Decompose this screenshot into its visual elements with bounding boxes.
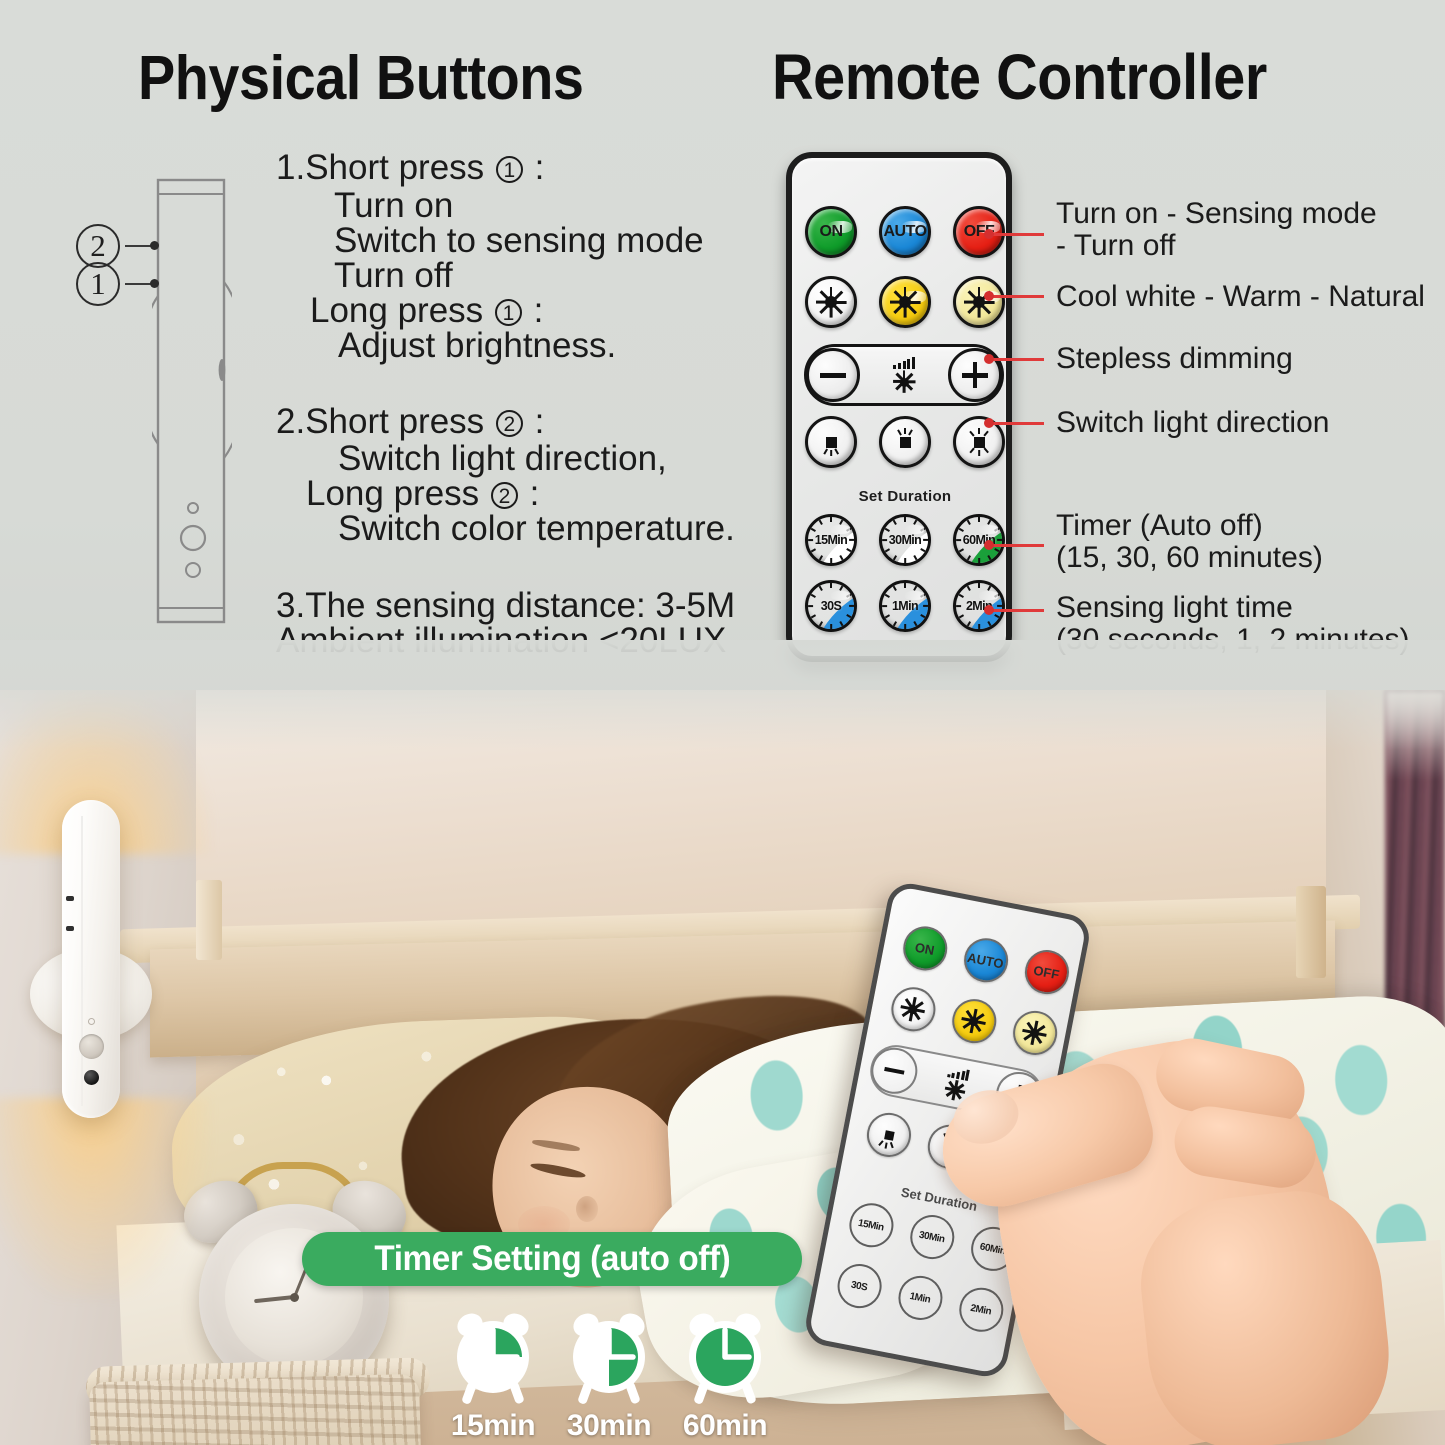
timer-30min-button[interactable]: 30Min xyxy=(879,514,931,566)
minus-icon xyxy=(820,362,846,388)
sensing-30s-button-photo[interactable]: 30S xyxy=(833,1260,885,1312)
callout-dot-direction xyxy=(984,418,994,428)
page-title-physical-buttons: Physical Buttons xyxy=(138,43,584,114)
natural-white-button[interactable] xyxy=(953,276,1005,328)
gauge-bars-icon xyxy=(947,1065,970,1081)
light-down-button[interactable] xyxy=(805,416,857,468)
nose xyxy=(576,1196,598,1222)
callout-sensing: Sensing light time (30 seconds, 1, 2 min… xyxy=(1056,592,1410,657)
instruction-line-2d: Switch color temperature. xyxy=(338,511,735,546)
timer-setting-banner: Timer Setting (auto off) xyxy=(302,1232,802,1286)
sensing-1min-button[interactable]: 1Min xyxy=(879,580,931,632)
callout-dot-sensing xyxy=(984,605,994,615)
instruction-line-1d: Turn off xyxy=(334,258,453,293)
callout-dot-color-temp xyxy=(984,291,994,301)
timer-icon-label: 30min xyxy=(567,1409,651,1443)
callout-dot-power xyxy=(984,229,994,239)
set-duration-label: Set Duration xyxy=(792,488,1018,505)
callout-line-color-temp xyxy=(992,295,1044,298)
remote-row-timer: 15Min 30Min 60Min xyxy=(792,514,1018,566)
timer-30min-button-photo[interactable]: 30Min xyxy=(906,1211,958,1263)
sun-icon xyxy=(893,371,915,393)
nightstand-basket xyxy=(89,1374,425,1445)
indicator-led-icon xyxy=(88,1018,95,1025)
knuckles xyxy=(1133,1183,1398,1445)
light-glow-down xyxy=(0,1098,210,1298)
callout-direction: Switch light direction xyxy=(1056,407,1329,439)
instruction-line-1f: Adjust brightness. xyxy=(338,328,616,363)
bed-post-left xyxy=(196,880,222,960)
cool-white-button[interactable] xyxy=(805,276,857,328)
led-seam xyxy=(81,816,83,1106)
callout-dot-timer xyxy=(984,540,994,550)
sensing-1min-button-photo[interactable]: 1Min xyxy=(894,1272,946,1324)
warm-white-button[interactable] xyxy=(879,276,931,328)
callout-dot-dimming xyxy=(984,354,994,364)
inline-circle-one-b: 1 xyxy=(495,299,522,326)
timer-15min-button[interactable]: 15Min xyxy=(805,514,857,566)
off-button-photo[interactable]: OFF xyxy=(1021,946,1073,998)
device-button-one[interactable] xyxy=(66,926,74,931)
callout-dimming: Stepless dimming xyxy=(1056,343,1293,375)
inline-circle-one: 1 xyxy=(496,156,523,183)
sun-icon xyxy=(890,287,920,317)
sensing-30s-button[interactable]: 30S xyxy=(805,580,857,632)
instruction-line-2c: Long press 2 : xyxy=(306,476,539,511)
light-sensor-icon xyxy=(84,1070,99,1085)
cool-white-button-photo[interactable] xyxy=(887,983,939,1035)
timer-icon-30min: 30min xyxy=(564,1312,654,1443)
instruction-line-2a: 2.Short press 2 : xyxy=(276,404,544,439)
callout-line-timer xyxy=(992,544,1044,547)
light-down-button-photo[interactable] xyxy=(863,1109,915,1161)
infographic-page: Physical Buttons Remote Controller 2 1 1 xyxy=(0,0,1445,1445)
inline-circle-two: 2 xyxy=(496,410,523,437)
timer-icon-60min: 60min xyxy=(680,1312,770,1443)
page-title-remote-controller: Remote Controller xyxy=(772,40,1267,114)
on-button[interactable]: ON xyxy=(805,206,857,258)
light-up-icon xyxy=(891,428,919,456)
callout-color-temp: Cool white - Warm - Natural xyxy=(1056,281,1425,313)
alarm-clock-icon xyxy=(680,1312,770,1413)
auto-button[interactable]: AUTO xyxy=(879,206,931,258)
callout-power: Turn on - Sensing mode - Turn off xyxy=(1056,198,1377,263)
timer-15min-button-photo[interactable]: 15Min xyxy=(845,1199,897,1251)
timer-icon-row: 15min 30min xyxy=(448,1312,778,1440)
remote-row-color-temp xyxy=(792,276,1018,328)
led-wall-light xyxy=(62,800,120,1118)
instruction-line-3b: Ambient illumination <20LUX xyxy=(276,623,726,658)
sun-icon xyxy=(960,1007,988,1035)
alarm-clock-icon xyxy=(448,1312,538,1413)
timer-icon-label: 15min xyxy=(451,1409,535,1443)
light-up-button[interactable] xyxy=(879,416,931,468)
instruction-line-1b: Turn on xyxy=(334,188,453,223)
instruction-line-1a: 1.Short press 1 : xyxy=(276,150,544,185)
natural-white-button-photo[interactable] xyxy=(1009,1007,1061,1059)
curtain-highlight xyxy=(1385,690,1445,780)
leader-dot-one xyxy=(150,279,159,288)
instruction-line-3a: 3.The sensing distance: 3-5M xyxy=(276,588,735,623)
timer-icon-15min: 15min xyxy=(448,1312,538,1443)
auto-button-photo[interactable]: AUTO xyxy=(960,934,1012,986)
sun-icon xyxy=(1021,1019,1049,1047)
timer-setting-banner-label: Timer Setting (auto off) xyxy=(374,1239,730,1279)
device-button-two[interactable] xyxy=(66,896,74,901)
inline-circle-two-b: 2 xyxy=(491,482,518,509)
instruction-line-2b: Switch light direction, xyxy=(338,441,667,476)
instructions-panel: Physical Buttons Remote Controller 2 1 1 xyxy=(0,0,1445,706)
dim-up-button[interactable] xyxy=(948,348,1002,402)
instruction-line-1e: Long press 1 : xyxy=(310,293,543,328)
warm-white-button-photo[interactable] xyxy=(948,995,1000,1047)
timer-icon-label: 60min xyxy=(683,1409,767,1443)
sun-icon xyxy=(944,1079,966,1101)
light-bar-line-drawing xyxy=(152,178,232,624)
callout-timer: Timer (Auto off) (15, 30, 60 minutes) xyxy=(1056,510,1323,575)
timer-60min-button[interactable]: 60Min xyxy=(953,514,1005,566)
off-button[interactable]: OFF xyxy=(953,206,1005,258)
dim-down-button[interactable] xyxy=(806,348,860,402)
hand-holding-remote: ON AUTO OFF xyxy=(845,895,1445,1445)
instruction-line-1c: Switch to sensing mode xyxy=(334,223,704,258)
gauge-bars-icon xyxy=(893,357,914,369)
brightness-gauge-icon xyxy=(943,1065,970,1101)
remote-controller-diagram: ON AUTO OFF xyxy=(786,152,1012,662)
light-both-icon xyxy=(965,428,993,456)
light-down-icon xyxy=(876,1122,902,1148)
on-button-photo[interactable]: ON xyxy=(899,923,951,975)
alarm-clock-icon xyxy=(564,1312,654,1413)
dim-down-button-photo[interactable] xyxy=(867,1044,921,1098)
leader-dot-two xyxy=(150,241,159,250)
light-down-icon xyxy=(817,428,845,456)
motion-sensor-icon xyxy=(79,1034,104,1059)
callout-line-power xyxy=(992,233,1044,236)
sun-icon xyxy=(899,995,927,1023)
callout-line-direction xyxy=(992,422,1044,425)
remote-row-dimming xyxy=(804,344,1004,406)
plus-icon xyxy=(962,362,988,388)
callout-line-dimming xyxy=(992,358,1044,361)
clock-hour-hand xyxy=(254,1295,294,1303)
device-label-one: 1 xyxy=(76,262,120,306)
callout-line-sensing xyxy=(992,609,1044,612)
minus-icon xyxy=(883,1059,906,1082)
sensing-2min-button-photo[interactable]: 2Min xyxy=(955,1284,1007,1336)
sun-icon xyxy=(816,287,846,317)
sensing-2min-button[interactable]: 2Min xyxy=(953,580,1005,632)
clock-center-pin xyxy=(290,1293,299,1302)
brightness-gauge-icon xyxy=(893,357,915,393)
